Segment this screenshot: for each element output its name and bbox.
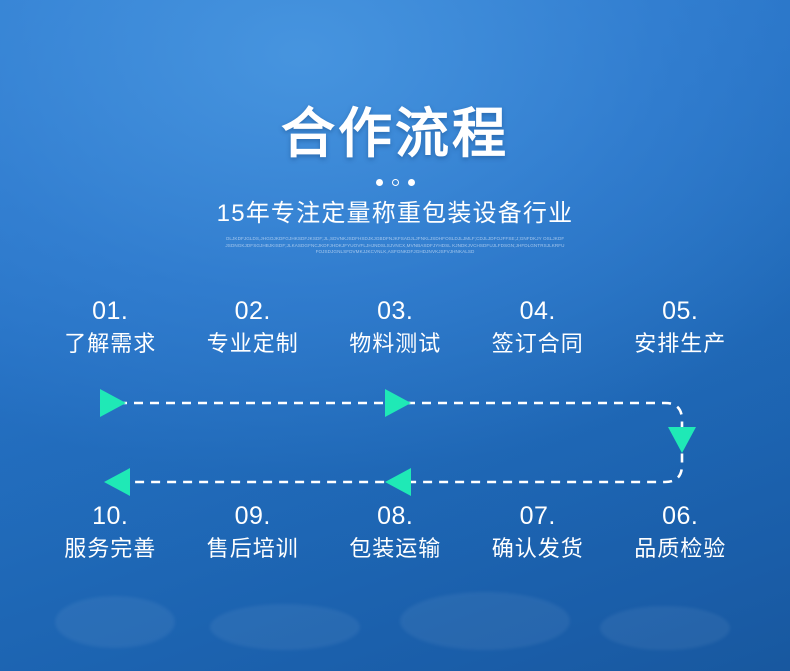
- watermark-shape: [210, 604, 360, 650]
- watermark-shape: [600, 606, 730, 650]
- step-number: 10.: [39, 500, 182, 533]
- divider-dot-filled: [408, 179, 415, 186]
- step-number: 04.: [467, 295, 610, 328]
- divider-dot-filled: [376, 179, 383, 186]
- step-label: 安排生产: [609, 328, 752, 360]
- process-step-04[interactable]: 04. 签订合同: [467, 295, 610, 360]
- step-label: 了解需求: [39, 328, 182, 360]
- watermark-shape: [400, 592, 570, 650]
- promo-banner: 合作流程 15年专注定量称重包装设备行业 OLJKDFJGLDS,JHGOJKD…: [0, 0, 790, 671]
- step-number: 05.: [609, 295, 752, 328]
- step-number: 01.: [39, 295, 182, 328]
- banner-header: 合作流程 15年专注定量称重包装设备行业 OLJKDFJGLDS,JHGOJKD…: [0, 0, 790, 256]
- step-number: 09.: [182, 500, 325, 533]
- step-label: 包装运输: [324, 533, 467, 565]
- arrow-down-icon: [668, 427, 696, 453]
- step-number: 02.: [182, 295, 325, 328]
- divider-dot-hollow: [392, 179, 399, 186]
- process-step-03[interactable]: 03. 物料测试: [324, 295, 467, 360]
- page-subtitle: 15年专注定量称重包装设备行业: [0, 188, 790, 229]
- title-dot-divider: [0, 176, 790, 188]
- process-step-08[interactable]: 08. 包装运输: [324, 500, 467, 565]
- step-label: 物料测试: [324, 328, 467, 360]
- process-flow-diagram: 01. 了解需求 02. 专业定制 03. 物料测试 04. 签订合同 05. …: [0, 295, 790, 585]
- arrow-left-icon-2: [104, 468, 130, 496]
- process-step-10[interactable]: 10. 服务完善: [39, 500, 182, 565]
- step-label: 售后培训: [182, 533, 325, 565]
- step-label: 品质检验: [609, 533, 752, 565]
- step-label: 专业定制: [182, 328, 325, 360]
- step-number: 08.: [324, 500, 467, 533]
- step-label: 确认发货: [467, 533, 610, 565]
- step-label: 签订合同: [467, 328, 610, 360]
- process-step-02[interactable]: 02. 专业定制: [182, 295, 325, 360]
- watermark-shape: [55, 596, 175, 648]
- step-number: 06.: [609, 500, 752, 533]
- step-number: 07.: [467, 500, 610, 533]
- process-step-01[interactable]: 01. 了解需求: [39, 295, 182, 360]
- process-step-05[interactable]: 05. 安排生产: [609, 295, 752, 360]
- arrow-right-icon-2: [385, 389, 411, 417]
- arrow-left-icon-1: [385, 468, 411, 496]
- process-steps-bottom-row: 10. 服务完善 09. 售后培训 08. 包装运输 07. 确认发货 06. …: [0, 500, 790, 565]
- step-label: 服务完善: [39, 533, 182, 565]
- process-steps-top-row: 01. 了解需求 02. 专业定制 03. 物料测试 04. 签订合同 05. …: [0, 295, 790, 360]
- arrow-right-icon-1: [100, 389, 126, 417]
- process-step-06[interactable]: 06. 品质检验: [609, 500, 752, 565]
- step-number: 03.: [324, 295, 467, 328]
- process-step-07[interactable]: 07. 确认发货: [467, 500, 610, 565]
- process-step-09[interactable]: 09. 售后培训: [182, 500, 325, 565]
- page-title: 合作流程: [0, 0, 790, 165]
- fine-print-text: OLJKDFJGLDS,JHGOJKDFGJHKSDFJKSDF;JL,SDVN…: [225, 229, 565, 256]
- flow-path-dashed: [118, 403, 682, 482]
